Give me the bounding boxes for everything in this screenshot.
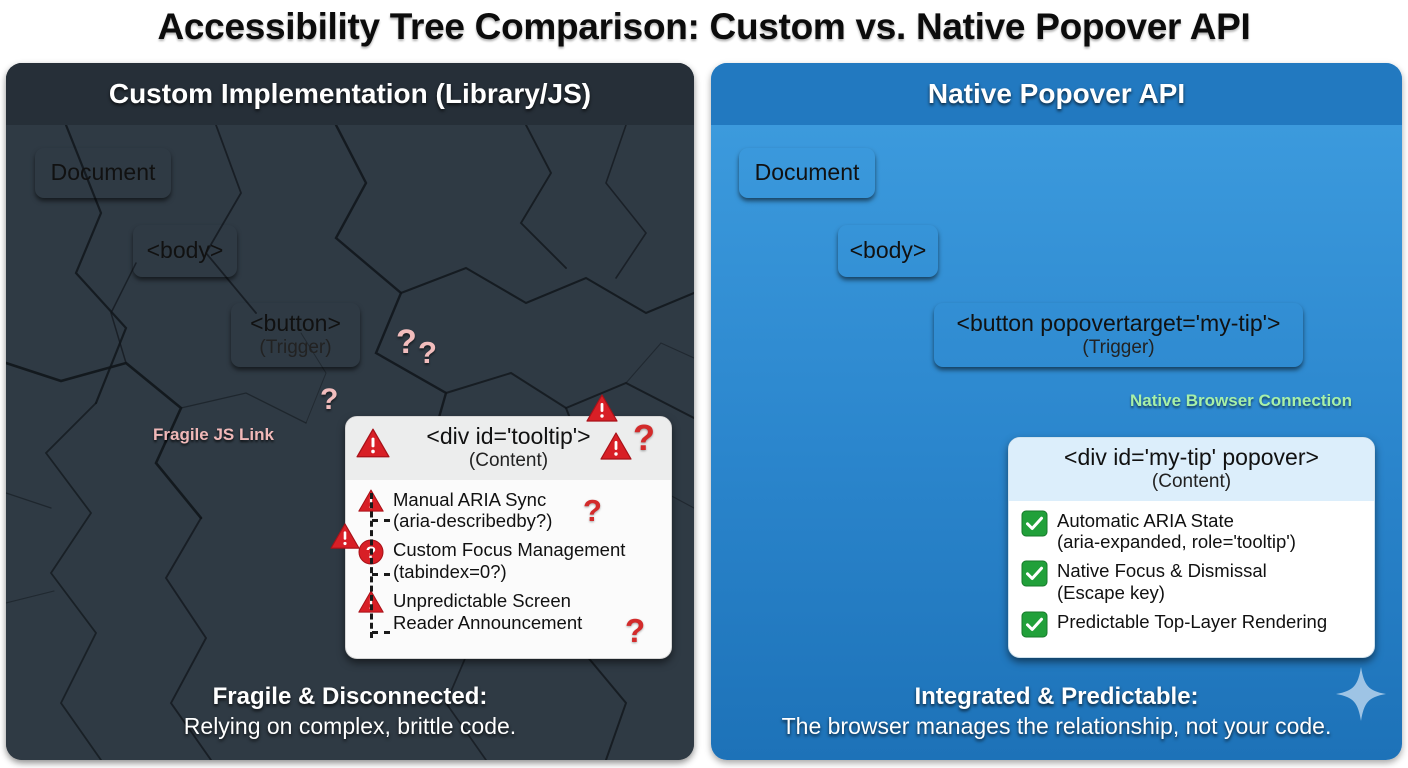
- card-dash-tick: [372, 519, 390, 522]
- node-label: <button>: [250, 311, 341, 337]
- left-panel-header: Custom Implementation (Library/JS): [6, 63, 694, 125]
- sparkle-icon: [1334, 665, 1388, 728]
- list-item-text: Custom Focus Management (tabindex=0?): [393, 539, 625, 583]
- question-mark-icon: ?: [583, 495, 602, 526]
- popover-card-title: <div id='my-tip' popover>: [1015, 445, 1368, 471]
- node-label: Document: [755, 160, 860, 186]
- check-box-icon: [1021, 560, 1048, 587]
- list-item-line1: Unpredictable Screen: [393, 590, 571, 611]
- list-item-line2: Reader Announcement: [393, 612, 582, 633]
- right-panel-footer: Integrated & Predictable: The browser ma…: [711, 682, 1402, 742]
- check-box-icon: [1021, 611, 1048, 638]
- list-item: Native Focus & Dismissal (Escape key): [1021, 560, 1364, 604]
- node-label: <button popovertarget='my-tip'>: [957, 311, 1281, 337]
- fragile-js-link-label: Fragile JS Link: [153, 425, 274, 445]
- right-footer-subtext: The browser manages the relationship, no…: [711, 712, 1402, 742]
- list-item-line2: (aria-describedby?): [393, 510, 552, 531]
- node-sublabel: (Trigger): [259, 337, 331, 358]
- list-item-line2: (tabindex=0?): [393, 561, 507, 582]
- list-item-text: Native Focus & Dismissal (Escape key): [1057, 560, 1267, 604]
- question-mark-icon: ?: [633, 420, 655, 456]
- diagram-root: Accessibility Tree Comparison: Custom vs…: [0, 0, 1408, 768]
- warning-triangle-icon: [586, 394, 618, 428]
- node-label: <body>: [147, 238, 224, 264]
- list-item-text: Manual ARIA Sync (aria-describedby?): [393, 489, 552, 533]
- list-item-line1: Manual ARIA Sync: [393, 489, 546, 510]
- node-body-left[interactable]: <body>: [133, 225, 237, 277]
- node-button-left[interactable]: <button> (Trigger): [231, 303, 360, 367]
- warning-triangle-icon: [356, 428, 390, 464]
- check-box-icon: [1021, 510, 1048, 537]
- list-item-line1: Predictable Top-Layer Rendering: [1057, 611, 1327, 632]
- list-item-text: Predictable Top-Layer Rendering: [1057, 611, 1327, 633]
- list-item: Manual ARIA Sync (aria-describedby?): [358, 489, 661, 533]
- list-item: Predictable Top-Layer Rendering: [1021, 611, 1364, 638]
- node-button-right[interactable]: <button popovertarget='my-tip'> (Trigger…: [934, 303, 1303, 367]
- card-dash-tick: [372, 631, 390, 634]
- page-title: Accessibility Tree Comparison: Custom vs…: [0, 6, 1408, 48]
- question-mark-icon: ?: [396, 325, 417, 359]
- node-label: Document: [51, 160, 156, 186]
- list-item: Automatic ARIA State (aria-expanded, rol…: [1021, 510, 1364, 554]
- popover-card-header: <div id='my-tip' popover> (Content): [1009, 438, 1374, 501]
- node-document-right[interactable]: Document: [739, 148, 875, 198]
- node-body-right[interactable]: <body>: [838, 225, 938, 277]
- list-item-text: Automatic ARIA State (aria-expanded, rol…: [1057, 510, 1296, 554]
- warning-triangle-icon: [600, 432, 632, 466]
- native-browser-connection-label: Native Browser Connection: [1130, 391, 1352, 411]
- node-document-left[interactable]: Document: [35, 148, 171, 198]
- left-panel-footer: Fragile & Disconnected: Relying on compl…: [6, 682, 694, 742]
- left-footer-subtext: Relying on complex, brittle code.: [6, 712, 694, 742]
- node-label: <body>: [850, 238, 927, 264]
- question-mark-icon: ?: [625, 614, 645, 647]
- list-item: ? Custom Focus Management (tabindex=0?): [358, 539, 661, 583]
- card-internal-dashed-line: [370, 493, 373, 638]
- card-dash-tick: [372, 573, 390, 576]
- list-item-text: Unpredictable Screen Reader Announcement: [393, 590, 582, 634]
- right-panel-header: Native Popover API: [711, 63, 1402, 125]
- list-item-line1: Native Focus & Dismissal: [1057, 560, 1267, 581]
- list-item-line1: Custom Focus Management: [393, 539, 625, 560]
- left-footer-headline: Fragile & Disconnected:: [6, 682, 694, 712]
- list-item-line1: Automatic ARIA State: [1057, 510, 1234, 531]
- tooltip-card-body: Manual ARIA Sync (aria-describedby?) ? C…: [346, 480, 671, 647]
- popover-content-card: <div id='my-tip' popover> (Content) Auto…: [1008, 437, 1375, 658]
- warning-triangle-icon: [330, 523, 360, 555]
- question-mark-icon: ?: [320, 385, 338, 415]
- popover-card-body: Automatic ARIA State (aria-expanded, rol…: [1009, 501, 1374, 651]
- node-sublabel: (Trigger): [1082, 337, 1154, 358]
- list-item-line2: (aria-expanded, role='tooltip'): [1057, 531, 1296, 552]
- question-mark-icon: ?: [418, 337, 437, 368]
- right-footer-headline: Integrated & Predictable:: [711, 682, 1402, 712]
- list-item-line2: (Escape key): [1057, 582, 1165, 603]
- popover-card-subtitle: (Content): [1015, 471, 1368, 493]
- list-item: Unpredictable Screen Reader Announcement: [358, 590, 661, 634]
